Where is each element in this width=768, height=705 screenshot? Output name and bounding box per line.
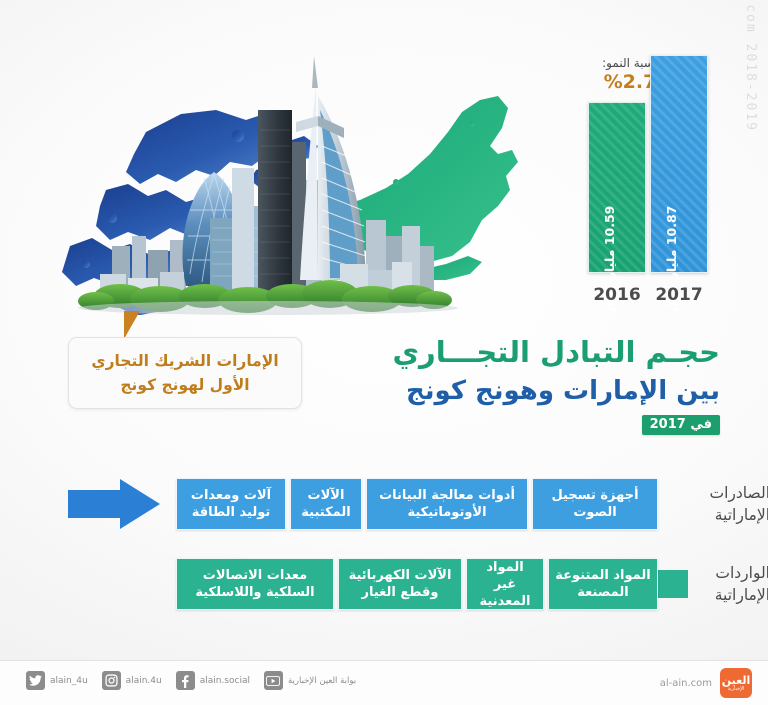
exports-arrow-icon	[68, 477, 160, 531]
headline-line-1: حجـم التبادل التجـــاري	[300, 332, 720, 372]
callout-box: الإمارات الشريك التجاري الأول لهونج كونج	[68, 337, 302, 409]
bar-2017: 10.87 مليار دولار	[650, 55, 708, 273]
imports-item-2[interactable]: المواد غير المعدنية	[466, 558, 544, 610]
brand-url: al-ain.com	[660, 678, 712, 689]
social-youtube[interactable]: بوابة العين الإخبارية	[264, 671, 356, 690]
imports-item-4[interactable]: معدات الاتصالات السلكية واللاسلكية	[176, 558, 334, 610]
burj-al-arab	[296, 56, 366, 280]
headline-year-badge: في 2017	[642, 415, 720, 435]
brand-name: العين	[722, 675, 751, 686]
watermark: © www.al-ain.com 2018-2019	[742, 0, 762, 132]
social-links: alain_4u alain.4u alai	[26, 671, 356, 690]
badge-year: 2017	[650, 417, 686, 432]
facebook-icon[interactable]	[176, 671, 195, 690]
exports-items: أجهزة تسجيل الصوت أدوات معالجة البيانات …	[176, 478, 658, 530]
watermark-years: 2018-2019	[743, 44, 758, 132]
al-ain-logo-icon[interactable]: العين الإخبارية	[720, 668, 752, 698]
facebook-handle: alain.social	[200, 676, 250, 686]
twitter-icon[interactable]	[26, 671, 45, 690]
imports-item-1[interactable]: المواد المتنوعة المصنعة	[548, 558, 658, 610]
imports-item-3[interactable]: الآلات الكهربائية وقطع الغيار	[338, 558, 462, 610]
infographic-canvas: © www.al-ain.com 2018-2019	[0, 0, 768, 705]
exports-item-2[interactable]: الآلات المكتبية	[290, 478, 362, 530]
exports-item-1[interactable]: آلات ومعدات توليد الطاقة	[176, 478, 286, 530]
exports-label-line-1: الصادرات	[660, 482, 768, 504]
x-tick-2016: 2016	[588, 285, 646, 305]
social-twitter[interactable]: alain_4u	[26, 671, 88, 690]
exports-row: الصادرات الإماراتية أجهزة تسجيل الصوت أد…	[98, 478, 658, 530]
badge-prefix: في	[690, 417, 712, 432]
headline-block: حجـم التبادل التجـــاري بين الإمارات وهو…	[300, 332, 720, 435]
bars-group: 10.59 مليار دولار 10.87 مليار دولار	[528, 55, 708, 273]
callout-line-2: الأول لهونج كونج	[91, 373, 278, 397]
headline-line-2: بين الإمارات وهونج كونج	[300, 372, 720, 410]
maps-and-skyline-illustration	[0, 50, 520, 315]
instagram-handle: alain.4u	[126, 676, 162, 686]
bar-2016: 10.59 مليار دولار	[588, 102, 646, 273]
x-tick-2017: 2017	[650, 285, 708, 305]
x-axis-tick-labels: 2016 2017	[528, 277, 708, 305]
exports-item-4[interactable]: أجهزة تسجيل الصوت	[532, 478, 658, 530]
imports-row: الواردات الإماراتية المواد المتنوعة المص…	[98, 558, 658, 610]
instagram-icon[interactable]	[102, 671, 121, 690]
brand-block[interactable]: al-ain.com العين الإخبارية	[660, 668, 752, 698]
exports-item-3[interactable]: أدوات معالجة البيانات الأوتوماتيكية	[366, 478, 528, 530]
youtube-handle: بوابة العين الإخبارية	[288, 676, 356, 686]
twitter-handle: alain_4u	[50, 676, 88, 686]
trade-volume-bar-chart: نسبة النمو: %2.7 10.59 مليار دولار 10.87…	[528, 55, 708, 305]
youtube-icon[interactable]	[264, 671, 283, 690]
imports-items: المواد المتنوعة المصنعة المواد غير المعد…	[176, 558, 658, 610]
social-instagram[interactable]: alain.4u	[102, 671, 162, 690]
callout-line-1: الإمارات الشريك التجاري	[91, 349, 278, 373]
footer: alain_4u alain.4u alai	[0, 661, 768, 705]
brand-sub: الإخبارية	[728, 687, 745, 692]
exports-row-label: الصادرات الإماراتية	[660, 478, 768, 530]
exports-label-line-2: الإماراتية	[660, 504, 768, 526]
watermark-url: www.al-ain.com	[743, 0, 758, 34]
social-facebook[interactable]: alain.social	[176, 671, 250, 690]
callout-pointer	[124, 311, 140, 339]
